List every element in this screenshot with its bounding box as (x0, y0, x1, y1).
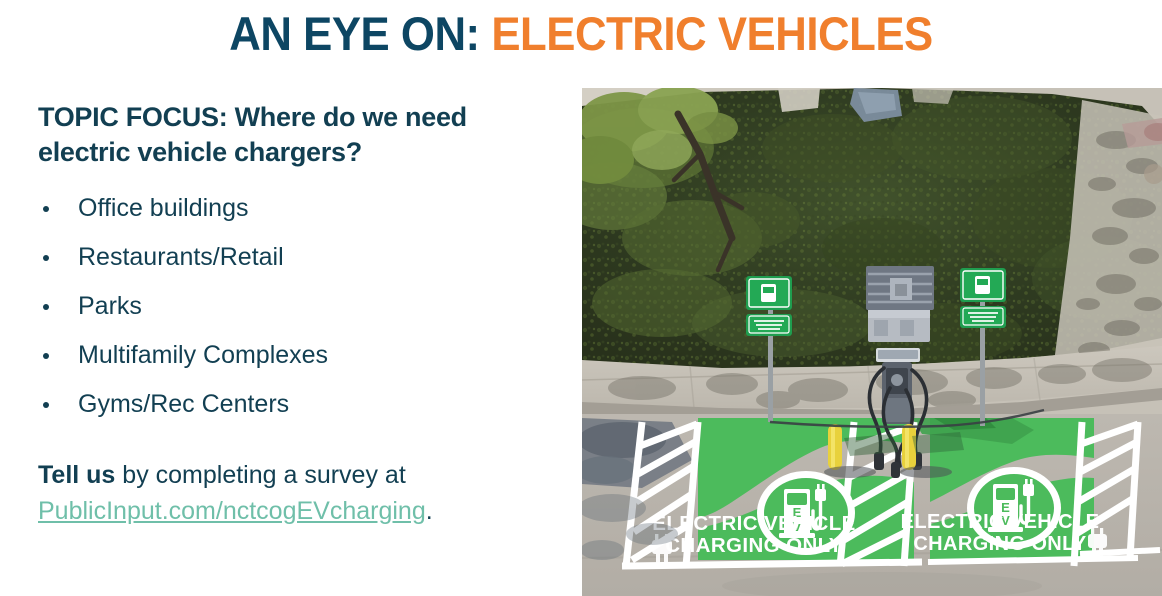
photo-illustration: E V E V (582, 88, 1162, 596)
page-title: AN EYE ON: ELECTRIC VEHICLES (41, 6, 1122, 62)
list-item-label: Gyms/Rec Centers (78, 390, 289, 418)
bollard-right (902, 424, 916, 470)
bullet-dot-icon (43, 206, 49, 212)
cta-bold-lead: Tell us (38, 461, 115, 489)
list-item: Office buildings (38, 184, 558, 233)
list-item: Multifamily Complexes (38, 331, 558, 380)
bollard-left (828, 424, 842, 470)
stall-label-left-line2: CHARGING ONLY (665, 534, 843, 557)
list-item-label: Office buildings (78, 194, 248, 222)
bullet-dot-icon (43, 304, 49, 310)
bullet-dot-icon (43, 255, 49, 261)
call-to-action-text: Tell us by completing a survey at Public… (38, 457, 558, 529)
slide-canvas: AN EYE ON: ELECTRIC VEHICLES TOPIC FOCUS… (0, 0, 1162, 596)
bullet-dot-icon (43, 353, 49, 359)
survey-link[interactable]: PublicInput.com/nctcogEVcharging (38, 497, 426, 525)
list-item-label: Multifamily Complexes (78, 341, 328, 369)
ev-charging-photo: E V E V (582, 88, 1162, 596)
list-item: Parks (38, 282, 558, 331)
cta-body-text: by completing a survey at (115, 461, 405, 489)
stall-label-right-line1: ELECTRIC VEHICLE (901, 511, 1100, 533)
list-item: Restaurants/Retail (38, 233, 558, 282)
topic-focus-heading: TOPIC FOCUS: Where do we need electric v… (38, 100, 558, 170)
need-locations-list: Office buildings Restaurants/Retail Park… (38, 184, 558, 429)
title-part-orange: ELECTRIC VEHICLES (491, 7, 932, 60)
list-item-label: Parks (78, 292, 142, 320)
title-part-dark: AN EYE ON: (229, 7, 479, 60)
stall-label-right-line2: CHARGING ONLY (913, 533, 1087, 555)
list-item-label: Restaurants/Retail (78, 243, 284, 271)
left-content-column: TOPIC FOCUS: Where do we need electric v… (38, 100, 558, 529)
stall-label-left-line1: ELECTRIC VEHICLE (652, 512, 855, 535)
bullet-dot-icon (43, 402, 49, 408)
cta-trailing-period: . (426, 497, 433, 525)
list-item: Gyms/Rec Centers (38, 380, 558, 429)
